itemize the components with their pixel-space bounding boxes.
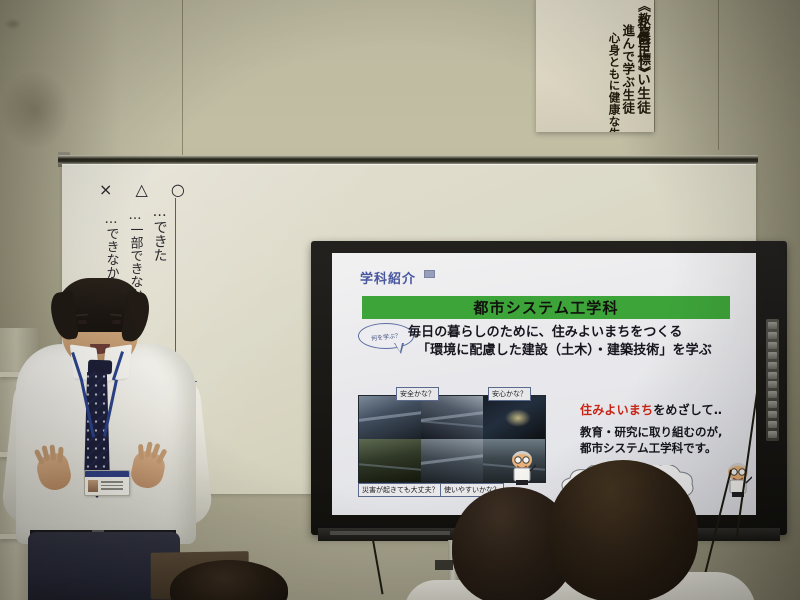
presentation-slide: 学科紹介 都市システム工学科 何を学ぶ？ 毎日の暮らしのために、住みよいまちをつ…: [332, 253, 756, 515]
right-body: 教育・研究に取り組むのが, 都市システム工学科です。: [580, 425, 756, 457]
poster-line-3: 心身ともに健康な生徒: [608, 32, 620, 132]
question-bubble-tail: [394, 343, 404, 354]
slide-kicker: 学科紹介: [360, 268, 416, 287]
whiteboard-marks: × △ ○: [99, 180, 194, 199]
doctor-character-icon: [508, 449, 536, 485]
badge-header: [85, 471, 129, 477]
poster-line-1: 礼儀正しい生徒: [634, 17, 648, 114]
slide-right-text: 住みよいまちをめざして‥ 教育・研究に取り組むのが, 都市システム工学科です。: [580, 401, 756, 457]
student-head: [548, 460, 698, 600]
slide-marker-icon: [424, 270, 435, 278]
whiteboard-rail: [58, 155, 758, 164]
presenter-eye-right: [112, 320, 121, 324]
right-highlight-line: 住みよいまちをめざして‥: [580, 401, 756, 418]
toolbar-button-input-icon[interactable]: [768, 342, 777, 349]
badge-photo: [88, 480, 98, 492]
slide-lead-line-2: 「環境に配慮した建設（土木）・建築技術」を学ぶ: [408, 342, 756, 360]
question-bubble: 何を学ぶ？: [358, 323, 414, 349]
poster-line-2: 進んで学ぶ生徒: [620, 24, 633, 114]
right-body-line-2: 都市システム工学科です。: [580, 441, 756, 457]
device-stand-foot-left: [435, 560, 453, 570]
right-body-line-1: 教育・研究に取り組むのが,: [580, 425, 756, 441]
presenter-eye-left: [78, 320, 87, 324]
wall-seam: [182, 0, 183, 156]
slide-lead-text: 毎日の暮らしのために、住みよいまちをつくる 「環境に配慮した建設（土木）・建築技…: [408, 324, 756, 361]
question-bubble-text: 何を学ぶ？: [371, 330, 402, 342]
badge-text-lines: [101, 481, 123, 492]
wall-seam: [654, 0, 655, 132]
photo-dam: [359, 439, 421, 482]
device-toolbar[interactable]: [766, 319, 779, 441]
id-badge: [84, 470, 130, 496]
wall-smudge: [0, 70, 70, 150]
wall-smudge: [4, 18, 22, 30]
slide-lead-line-1: 毎日の暮らしのために、住みよいまちをつくる: [408, 324, 756, 342]
interactive-whiteboard[interactable]: 学科紹介 都市システム工学科 何を学ぶ？ 毎日の暮らしのために、住みよいまちをつ…: [311, 241, 787, 535]
photo-tunnel: [483, 396, 545, 439]
toolbar-button-volume-down-icon[interactable]: [768, 381, 777, 388]
toolbar-button-power-icon[interactable]: [768, 322, 777, 329]
education-goals-poster: 《教育目標》 礼儀正しい生徒 進んで学ぶ生徒 心身ともに健康な生徒: [536, 0, 654, 132]
right-tail: をめざして‥: [653, 403, 722, 417]
photo-bridge: [359, 396, 421, 439]
device-speaker-strip: [330, 531, 450, 535]
toolbar-button-menu-icon[interactable]: [768, 332, 777, 339]
photo-construction: [421, 439, 483, 482]
toolbar-button-pen-icon[interactable]: [768, 352, 777, 359]
slide-title: 都市システム工学科: [473, 297, 618, 318]
photo-road: [421, 396, 483, 439]
toolbar-button-blank-icon[interactable]: [768, 401, 777, 408]
slide-title-bar: 都市システム工学科: [362, 296, 730, 319]
toolbar-button-eraser-icon[interactable]: [768, 362, 777, 369]
toolbar-button-freeze-icon[interactable]: [768, 391, 777, 398]
toolbar-button-print-icon[interactable]: [768, 421, 777, 428]
toolbar-button-settings-icon[interactable]: [768, 431, 777, 438]
whiteboard-column-1: …できた: [151, 204, 167, 262]
photo-tag-disaster: 災害が起きても大丈夫？: [358, 483, 443, 497]
wall-seam: [718, 0, 719, 150]
right-highlight: 住みよいまち: [580, 403, 653, 417]
photo-tag-security: 安心かな？: [488, 387, 531, 401]
display-screen[interactable]: 学科紹介 都市システム工学科 何を学ぶ？ 毎日の暮らしのために、住みよいまちをつ…: [332, 253, 756, 515]
classroom-scene: 《教育目標》 礼儀正しい生徒 進んで学ぶ生徒 心身ともに健康な生徒 × △ ○ …: [0, 0, 800, 600]
toolbar-button-save-icon[interactable]: [768, 411, 777, 418]
toolbar-button-volume-up-icon[interactable]: [768, 372, 777, 379]
photo-tag-safety: 安全かな？: [396, 387, 439, 401]
